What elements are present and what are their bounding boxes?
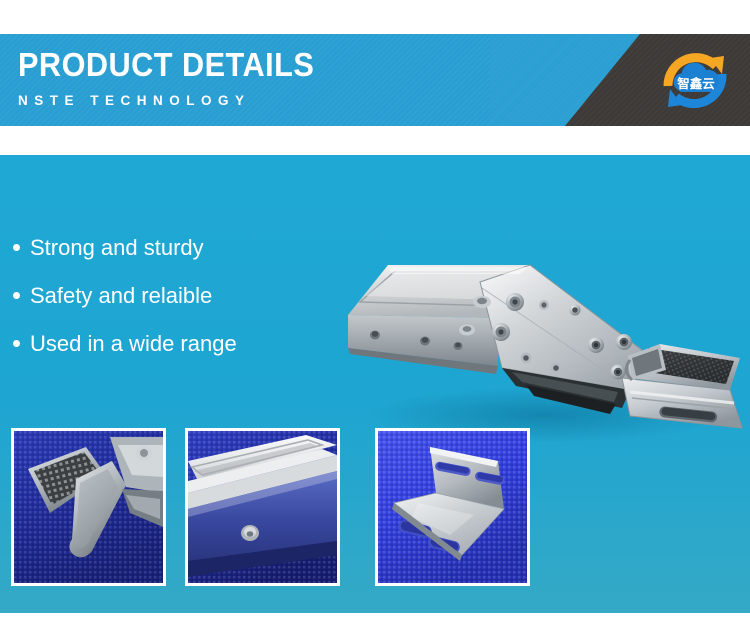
list-item: Used in a wide range: [13, 331, 343, 357]
page-subtitle: NSTE TECHNOLOGY: [18, 91, 337, 111]
bullet-label: Strong and sturdy: [30, 235, 204, 261]
page-title: PRODUCT DETAILS: [18, 46, 314, 84]
header-title-group: PRODUCT DETAILS NSTE TECHNOLOGY: [18, 46, 337, 111]
content-panel: Strong and sturdy Safety and relaible Us…: [0, 155, 750, 613]
hero-product-image: [330, 240, 750, 455]
brand-logo: 智鑫云: [654, 40, 736, 120]
logo-text: 智鑫云: [676, 76, 715, 91]
bullet-label: Safety and relaible: [30, 283, 212, 309]
bullet-label: Used in a wide range: [30, 331, 237, 357]
bullet-dot-icon: [13, 292, 20, 299]
bullet-dot-icon: [13, 340, 20, 347]
product-details-banner: PRODUCT DETAILS NSTE TECHNOLOGY: [0, 0, 750, 639]
header-band: PRODUCT DETAILS NSTE TECHNOLOGY: [0, 34, 750, 126]
thumbnail-aluminum-rail-extrusion[interactable]: [185, 428, 340, 586]
list-item: Strong and sturdy: [13, 235, 343, 261]
thumbnail-l-shaped-mounting-bracket[interactable]: [375, 428, 530, 586]
thumbnail-strip: [11, 428, 741, 588]
feature-bullet-list: Strong and sturdy Safety and relaible Us…: [13, 235, 343, 379]
bullet-dot-icon: [13, 244, 20, 251]
thumbnail-gripper-jaws-closeup[interactable]: [11, 428, 166, 586]
list-item: Safety and relaible: [13, 283, 343, 309]
